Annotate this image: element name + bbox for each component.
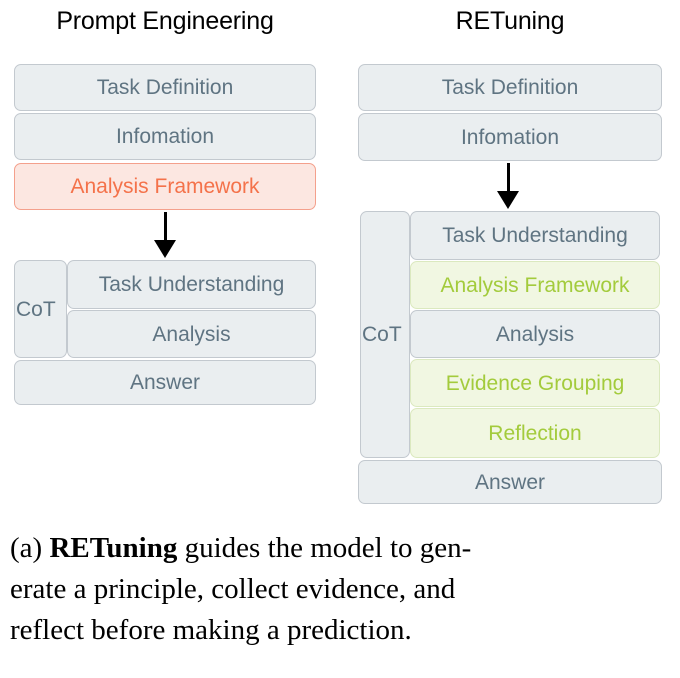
caption-bold-term: RETuning bbox=[49, 532, 177, 564]
right-cot-step-analysis-framework: Analysis Framework bbox=[410, 261, 660, 309]
caption-prefix: (a) bbox=[10, 532, 49, 564]
right-answer-box: Answer bbox=[358, 460, 662, 504]
right-cot-step-analysis: Analysis bbox=[410, 310, 660, 358]
caption-line1-rest: guides the model to gen- bbox=[177, 532, 471, 564]
right-cot-step-evidence-grouping: Evidence Grouping bbox=[410, 359, 660, 407]
right-column-title: RETuning bbox=[358, 7, 662, 36]
figure-diagram: Prompt Engineering Task Definition Infom… bbox=[0, 0, 680, 518]
left-cot-step-analysis: Analysis bbox=[67, 310, 316, 358]
left-down-arrow-icon bbox=[150, 212, 180, 258]
left-column-title: Prompt Engineering bbox=[14, 7, 316, 36]
figure-caption: (a) RETuning guides the model to gen- er… bbox=[10, 528, 670, 652]
right-prompt-box-task-definition: Task Definition bbox=[358, 64, 662, 111]
right-cot-label: CoT bbox=[360, 211, 410, 458]
right-prompt-box-infomation: Infomation bbox=[358, 113, 662, 161]
left-cot-step-task-understanding: Task Understanding bbox=[67, 260, 316, 309]
left-answer-box: Answer bbox=[14, 360, 316, 405]
left-prompt-box-analysis-framework: Analysis Framework bbox=[14, 163, 316, 210]
right-down-arrow-icon bbox=[493, 163, 523, 209]
caption-line2: erate a principle, collect evidence, and bbox=[10, 573, 455, 605]
left-cot-label: CoT bbox=[14, 260, 67, 358]
left-prompt-box-infomation: Infomation bbox=[14, 113, 316, 160]
right-cot-step-reflection: Reflection bbox=[410, 408, 660, 458]
caption-line3: reflect before making a prediction. bbox=[10, 614, 412, 646]
left-prompt-box-task-definition: Task Definition bbox=[14, 64, 316, 111]
right-cot-step-task-understanding: Task Understanding bbox=[410, 211, 660, 260]
